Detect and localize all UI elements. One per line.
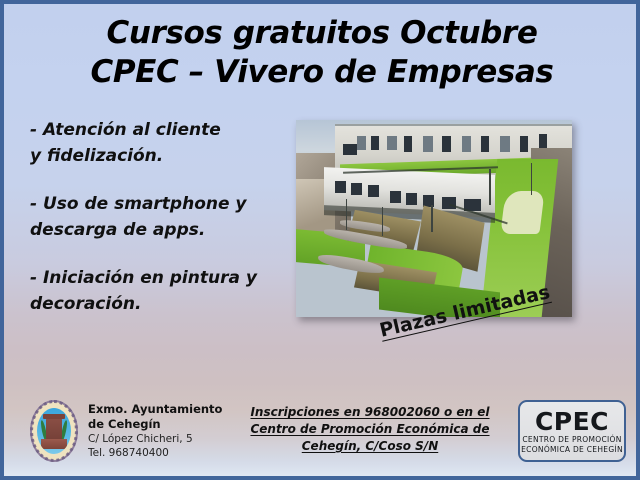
ayuntamiento-block: Exmo. Ayuntamiento de Cehegín C/ López C… (30, 400, 222, 462)
course-line: - Uso de smartphone y (30, 191, 285, 217)
course-item: - Atención al cliente y fidelización. (30, 117, 285, 169)
course-item: - Uso de smartphone y descarga de apps. (30, 191, 285, 243)
cpec-acronym: CPEC (535, 409, 609, 435)
course-line: - Atención al cliente (30, 117, 285, 143)
poster-canvas: Cursos gratuitos Octubre CPEC – Vivero d… (0, 0, 640, 480)
photo-window (387, 136, 397, 150)
cpec-subtitle-line-2: ECONÓMICA DE CEHEGÍN (521, 445, 623, 455)
course-line: y fidelización. (30, 143, 285, 169)
photo-window (500, 136, 510, 152)
course-item: - Iniciación en pintura y decoración. (30, 265, 285, 317)
poster-title: Cursos gratuitos Octubre CPEC – Vivero d… (4, 14, 640, 92)
photo-window (481, 136, 489, 152)
ayuntamiento-name-line-1: Exmo. Ayuntamiento (88, 402, 222, 417)
course-line: - Iniciación en pintura y (30, 265, 285, 291)
registration-info: Inscripciones en 968002060 o en el Centr… (232, 404, 508, 455)
photo-window (357, 136, 367, 150)
photo-window (351, 183, 362, 195)
photo-window (371, 136, 379, 150)
cehegin-coat-of-arms-icon (30, 400, 78, 462)
crest-dotted-border (30, 400, 78, 462)
registration-line-3: Cehegín, C/Coso S/N (232, 438, 508, 455)
photo-ramp-highlight (500, 191, 544, 234)
photo-lamp-post (382, 207, 384, 237)
ayuntamiento-address: C/ López Chicheri, 5 (88, 432, 222, 446)
ayuntamiento-text: Exmo. Ayuntamiento de Cehegín C/ López C… (88, 400, 222, 460)
registration-line-1: Inscripciones en 968002060 o en el (232, 404, 508, 421)
course-list: - Atención al cliente y fidelización. - … (30, 117, 285, 339)
ayuntamiento-name-line-2: de Cehegín (88, 417, 222, 432)
photo-window (462, 136, 472, 152)
photo-window (368, 185, 379, 197)
photo-window (404, 136, 412, 152)
course-line: decoración. (30, 291, 285, 317)
photo-lamp-post (431, 205, 433, 233)
photo-lamp-post (346, 199, 348, 231)
registration-line-2: Centro de Promoción Económica de (232, 421, 508, 438)
cpec-subtitle-line-1: CENTRO DE PROMOCIÓN (522, 435, 621, 445)
cpec-logo: CPEC CENTRO DE PROMOCIÓN ECONÓMICA DE CE… (518, 400, 626, 462)
title-line-2: CPEC – Vivero de Empresas (4, 53, 640, 92)
photo-window (335, 181, 346, 193)
photo-lamp-post (489, 169, 491, 204)
course-line: descarga de apps. (30, 217, 285, 243)
photo-window (423, 136, 433, 152)
photo-window (520, 136, 528, 152)
photo-lamp-post (531, 163, 533, 195)
ayuntamiento-phone: Tel. 968740400 (88, 446, 222, 460)
photo-window (343, 144, 357, 156)
photo-window (406, 193, 417, 205)
photo-window (442, 136, 450, 152)
photo-window (390, 191, 401, 203)
title-line-1: Cursos gratuitos Octubre (4, 14, 640, 53)
